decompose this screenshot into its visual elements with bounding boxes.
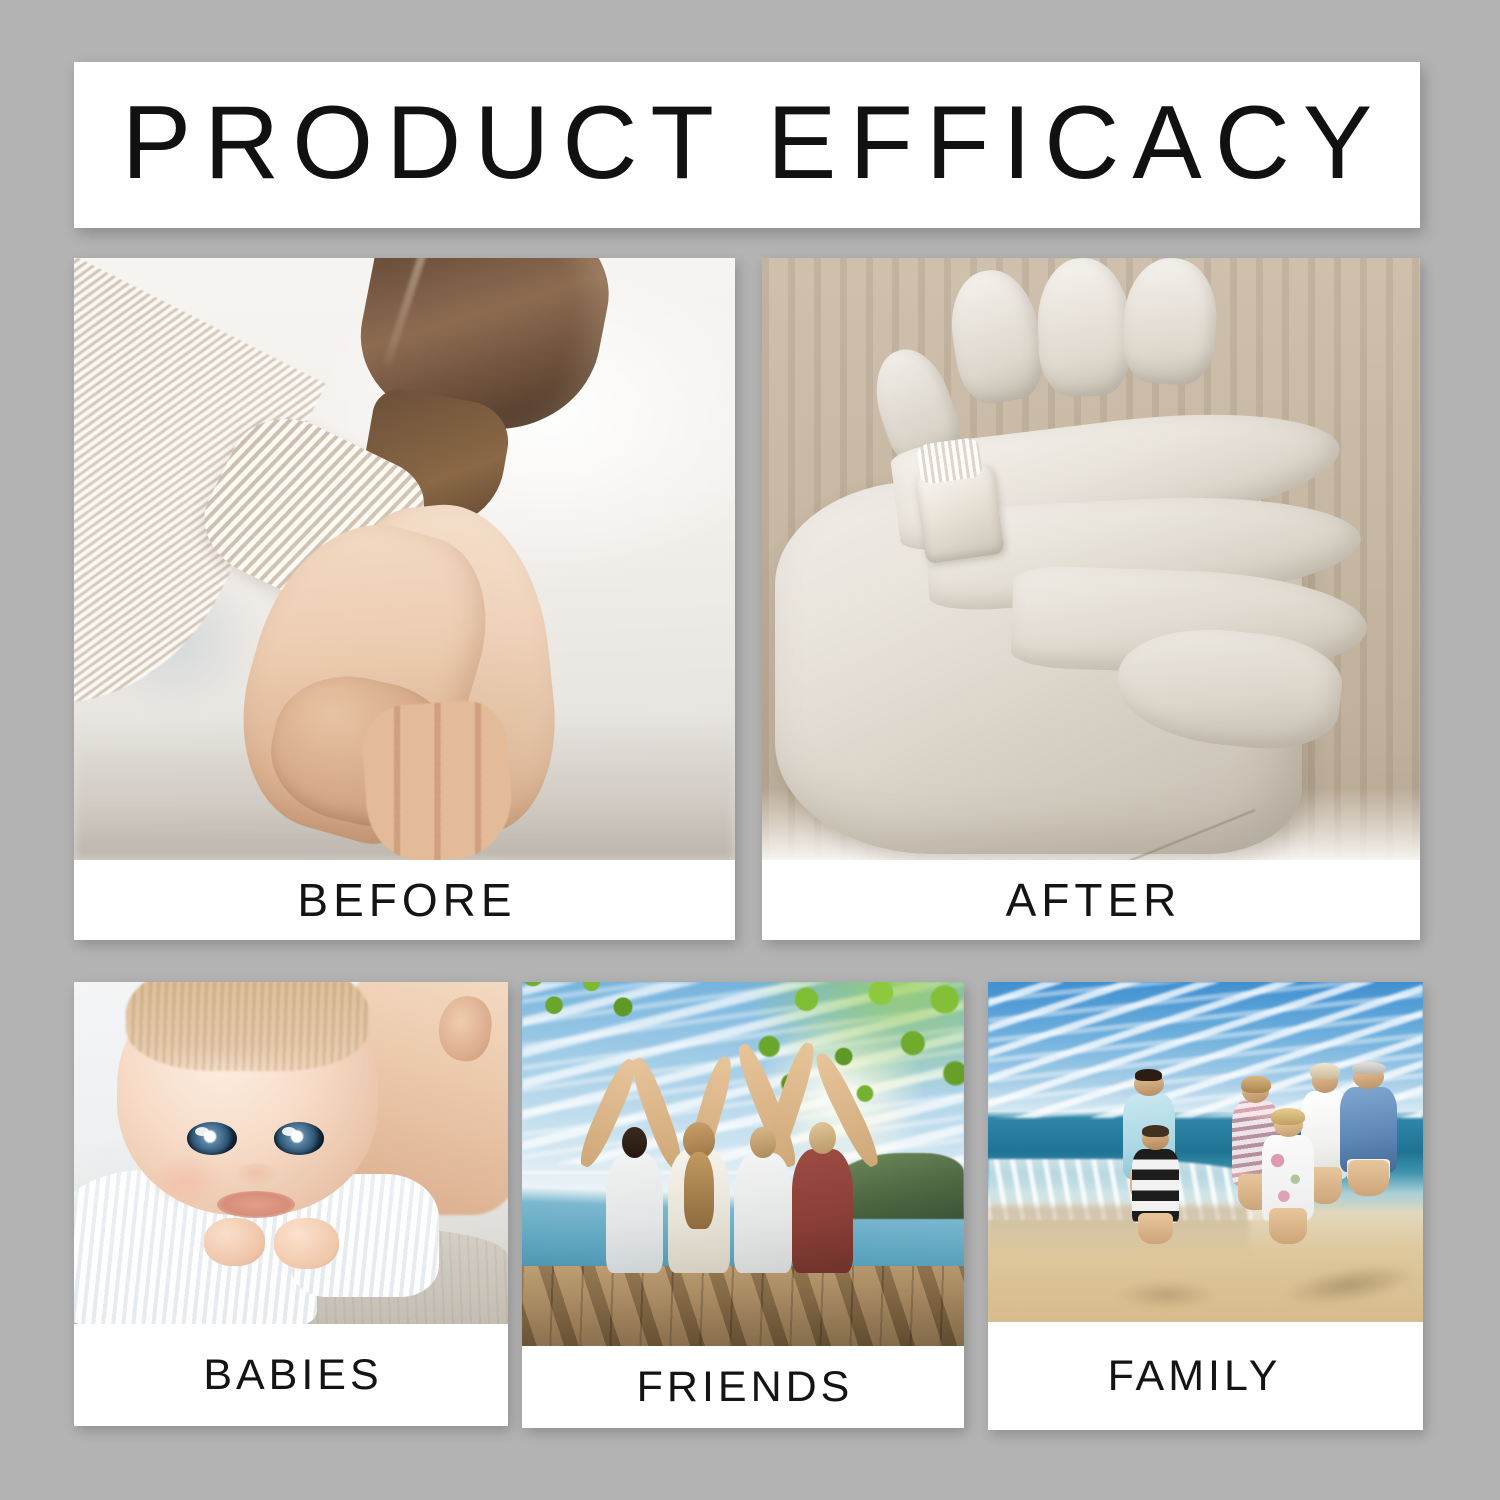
wet-sand [988, 1206, 1249, 1254]
baby-eye-left [187, 1122, 237, 1154]
sand-shadow-right [1282, 1258, 1416, 1312]
child-finger-2 [1036, 258, 1133, 398]
after-label: AFTER [1001, 877, 1182, 923]
sand-shadow-left [1119, 1281, 1215, 1308]
girl-floral-legs [1269, 1208, 1307, 1244]
family-girl-floral [1262, 1135, 1314, 1220]
baby-fist-left [204, 1218, 265, 1266]
before-label: BEFORE [292, 877, 516, 923]
friends-card: FRIENDS [522, 982, 964, 1428]
friends-label-strip: FRIENDS [522, 1346, 964, 1428]
family-label-strip: FAMILY [988, 1322, 1423, 1430]
babies-card: BABIES [74, 982, 508, 1426]
baby-mouth [217, 1191, 295, 1218]
plaster-hand-cast-photo [762, 258, 1420, 860]
friend-3-head [750, 1127, 775, 1158]
babies-label-strip: BABIES [74, 1324, 508, 1426]
baby-cheek [148, 1153, 226, 1208]
after-card: AFTER [762, 258, 1420, 940]
page-title-banner: PRODUCT EFFICACY [74, 62, 1420, 228]
friend-2-hair [684, 1152, 714, 1229]
friend-4 [792, 1149, 854, 1273]
friends-label: FRIENDS [633, 1366, 854, 1409]
baby-fist-right [274, 1218, 339, 1269]
friend-3 [734, 1153, 791, 1273]
before-card: BEFORE [74, 258, 735, 940]
family-grandfather [1340, 1087, 1397, 1172]
friends-on-dock-photo [522, 982, 964, 1346]
before-label-strip: BEFORE [74, 860, 735, 940]
baby-portrait-photo [74, 982, 508, 1324]
friend-1 [606, 1153, 663, 1273]
couple-holding-hands-photo [74, 258, 735, 860]
family-on-beach-photo [988, 982, 1423, 1322]
friend-1-head [622, 1127, 647, 1158]
family-label: FAMILY [1104, 1355, 1282, 1398]
page-title: PRODUCT EFFICACY [109, 91, 1386, 195]
after-label-strip: AFTER [762, 860, 1420, 940]
girl-floral-head [1274, 1113, 1303, 1137]
baby-nose [235, 1163, 278, 1187]
child-finger-1 [943, 264, 1048, 408]
cast-ring [914, 464, 1005, 564]
grandfather-legs [1348, 1160, 1389, 1196]
family-card: FAMILY [988, 982, 1423, 1430]
father-head [1134, 1072, 1163, 1096]
child-finger-3 [1120, 258, 1221, 387]
babies-label: BABIES [199, 1354, 382, 1397]
fingers [360, 699, 516, 860]
grandmother-head [1312, 1068, 1339, 1093]
friend-4-head [809, 1122, 836, 1154]
baby-eye-right [274, 1122, 324, 1154]
family-girl-striped [1132, 1149, 1180, 1224]
mother-head [1242, 1079, 1269, 1103]
girl-striped-legs [1138, 1213, 1172, 1244]
tree-leaves-left [522, 982, 659, 1040]
friend-2 [668, 1149, 730, 1273]
baby-hair [126, 982, 369, 1071]
wooden-dock [522, 1266, 964, 1346]
girl-striped-head [1142, 1129, 1169, 1150]
